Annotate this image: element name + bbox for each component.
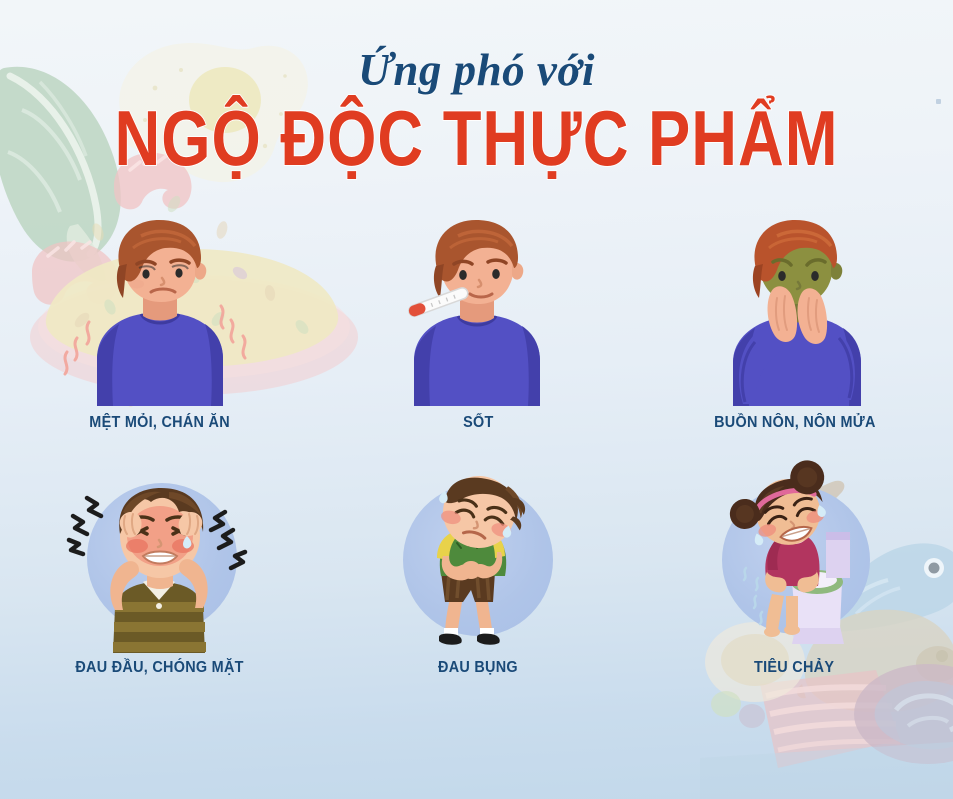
headache-boy-illustration — [65, 478, 255, 653]
symptom-label-stomachache: ĐAU BỤNG — [438, 659, 518, 677]
symptom-grid: MỆT MỎI, CHÁN ĂN — [0, 218, 953, 698]
symptom-card-nausea[interactable]: BUỒN NÔN, NÔN MỬA — [636, 218, 953, 443]
symptom-card-stomachache[interactable]: ĐAU BỤNG — [320, 478, 636, 698]
nausea-boy-illustration — [685, 218, 905, 408]
symptom-label-headache: ĐAU ĐẦU, CHÓNG MẶT — [76, 659, 244, 677]
symptom-card-headache[interactable]: ĐAU ĐẦU, CHÓNG MẶT — [0, 478, 320, 698]
symptom-card-diarrhea[interactable]: TIÊU CHẢY — [636, 478, 953, 698]
title-main-line: NGỘ ĐỘC THỰC PHẨM — [5, 99, 948, 177]
title-script-line: Ứng phó với — [0, 48, 953, 93]
symptom-label-nausea: BUỒN NÔN, NÔN MỬA — [714, 414, 876, 432]
symptom-label-fever: SỐT — [463, 414, 493, 432]
symptom-row-2: ĐAU ĐẦU, CHÓNG MẶT — [0, 478, 953, 698]
poster-canvas: Ứng phó với NGỘ ĐỘC THỰC PHẨM — [0, 0, 953, 799]
stomachache-boy-illustration — [383, 478, 573, 653]
symptom-card-fatigue[interactable]: MỆT MỎI, CHÁN ĂN — [0, 218, 320, 443]
symptom-label-diarrhea: TIÊU CHẢY — [754, 659, 834, 677]
diarrhea-girl-toilet-illustration — [700, 478, 890, 653]
symptom-label-fatigue: MỆT MỎI, CHÁN ĂN — [90, 414, 231, 432]
poster-title: Ứng phó với NGỘ ĐỘC THỰC PHẨM — [0, 48, 953, 163]
fever-boy-thermometer-illustration — [378, 218, 578, 408]
symptom-row-1: MỆT MỎI, CHÁN ĂN — [0, 218, 953, 443]
tired-boy-illustration — [45, 218, 275, 408]
table-surface-icon — [700, 740, 953, 799]
symptom-card-fever[interactable]: SỐT — [320, 218, 636, 443]
